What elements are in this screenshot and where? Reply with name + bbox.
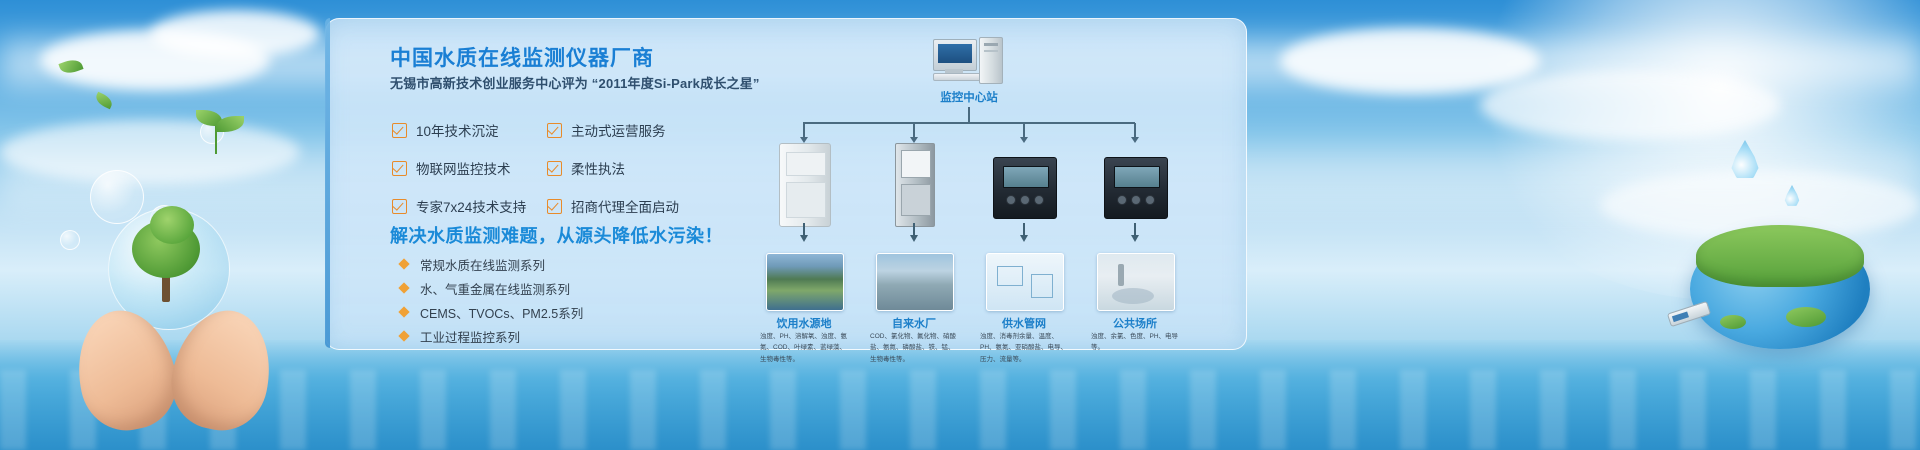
- checklist-row: 10年技术沉淀 主动式运营服务: [392, 120, 702, 140]
- section-heading: 解决水质监测难题，从源头降低水污染！: [390, 222, 723, 248]
- device-cabinet-1: [767, 143, 841, 225]
- pc-tower-icon: [979, 37, 1003, 84]
- page-title: 中国水质在线监测仪器厂商: [390, 42, 654, 72]
- checklist-label: 柔性执法: [571, 158, 625, 178]
- monitor-screen: [938, 44, 972, 63]
- application-photo-3: [986, 253, 1064, 311]
- list-item-label: 工业过程监控系列: [420, 327, 520, 346]
- device-body: [993, 157, 1057, 219]
- diamond-bullet-icon: [398, 258, 409, 269]
- checklist-row: 专家7x24技术支持 招商代理全面启动: [392, 196, 702, 216]
- device-buttons: [1006, 192, 1044, 208]
- diamond-bullet-icon: [398, 306, 409, 317]
- application-caption-title-1: 饮用水源地: [756, 315, 852, 331]
- earth-grass-cap: [1696, 225, 1864, 287]
- application-caption-desc-3: 浊度、消毒剂余量、温度、PH、氨氮、亚硝酸盐、电导、压力、流量等。: [980, 331, 1068, 365]
- list-item: 水、气重金属在线监测系列: [400, 276, 583, 300]
- device-body: [1104, 157, 1168, 219]
- leaf-4: [94, 92, 115, 110]
- diamond-bullet-icon: [398, 330, 409, 341]
- checkbox-icon: [392, 199, 407, 214]
- application-photo-4: [1097, 253, 1175, 311]
- cloud-5: [0, 120, 300, 184]
- promo-banner: 中国水质在线监测仪器厂商 无锡市高新技术创业服务中心评为 “2011年度Si-P…: [0, 0, 1920, 450]
- application-caption-desc-4: 浊度、余氯、色度、PH、电导等。: [1091, 331, 1179, 354]
- device-knob-icon: [1117, 195, 1127, 205]
- page-subtitle: 无锡市高新技术创业服务中心评为 “2011年度Si-Park成长之星”: [390, 73, 760, 92]
- list-item: CEMS、TVOCs、PM2.5系列: [400, 300, 583, 324]
- monitor-icon: [933, 39, 977, 71]
- checklist-item: 招商代理全面启动: [547, 196, 702, 216]
- device-knob-icon: [1020, 195, 1030, 205]
- checkbox-icon: [547, 199, 562, 214]
- checklist-item: 物联网监控技术: [392, 158, 547, 178]
- diamond-bullet-icon: [398, 282, 409, 293]
- checkbox-icon: [392, 161, 407, 176]
- device-arrow-3: [1020, 235, 1028, 242]
- device-screen: [1114, 166, 1160, 188]
- connector-trunk: [968, 107, 970, 123]
- list-item-label: CEMS、TVOCs、PM2.5系列: [420, 303, 583, 322]
- earth-island-2: [1720, 315, 1746, 329]
- application-caption-title-3: 供水管网: [976, 315, 1072, 331]
- feature-checklist: 10年技术沉淀 主动式运营服务 物联网监控技术 柔性执法 专家7x24技术支持: [392, 120, 702, 234]
- device-arrow-1: [800, 235, 808, 242]
- tree-foliage-top: [150, 206, 194, 244]
- device-body: [895, 143, 935, 227]
- earth-globe-illustration: [1690, 215, 1870, 355]
- earth-island-1: [1786, 307, 1826, 327]
- connector-horizontal-bar: [803, 122, 1135, 124]
- device-body: [779, 143, 831, 227]
- checkbox-icon: [547, 123, 562, 138]
- checklist-label: 专家7x24技术支持: [416, 196, 526, 216]
- checkbox-icon: [392, 123, 407, 138]
- application-photo-1: [766, 253, 844, 311]
- device-arrow-2: [910, 235, 918, 242]
- application-caption-title-2: 自来水厂: [866, 315, 962, 331]
- monitoring-center-computer-icon: [933, 37, 1003, 85]
- cloud-4: [1480, 70, 1780, 140]
- device-screen: [1003, 166, 1049, 188]
- device-buttons: [1117, 192, 1155, 208]
- device-analyzer-3: [987, 143, 1061, 225]
- cloud-3: [1280, 28, 1540, 94]
- product-series-list: 常规水质在线监测系列 水、气重金属在线监测系列 CEMS、TVOCs、PM2.5…: [400, 252, 583, 348]
- device-knob-icon: [1131, 195, 1141, 205]
- checklist-label: 主动式运营服务: [571, 120, 666, 140]
- cloud-2: [150, 10, 320, 58]
- list-item: 常规水质在线监测系列: [400, 252, 583, 276]
- list-item-label: 水、气重金属在线监测系列: [420, 279, 570, 298]
- device-analyzer-4: [1098, 143, 1172, 225]
- checklist-item: 主动式运营服务: [547, 120, 702, 140]
- list-item-label: 常规水质在线监测系列: [420, 255, 545, 274]
- monitoring-system-diagram: 监控中心站: [755, 25, 1185, 345]
- device-cabinet-2: [877, 143, 951, 225]
- checklist-label: 招商代理全面启动: [571, 196, 679, 216]
- checklist-label: 物联网监控技术: [416, 158, 511, 178]
- handheld-meter: [1667, 301, 1711, 327]
- checklist-row: 物联网监控技术 柔性执法: [392, 158, 702, 178]
- checkbox-icon: [547, 161, 562, 176]
- device-knob-icon: [1006, 195, 1016, 205]
- panel-left-accent: [325, 18, 330, 348]
- device-knob-icon: [1034, 195, 1044, 205]
- checklist-item: 专家7x24技术支持: [392, 196, 547, 216]
- checklist-item: 10年技术沉淀: [392, 120, 547, 140]
- checklist-item: 柔性执法: [547, 158, 702, 178]
- application-caption-desc-2: COD、氯化物、氟化物、硝酸盐、氨氮、磷酸盐、铁、锰、生物毒性等。: [870, 331, 958, 365]
- center-station-label: 监控中心站: [905, 89, 1033, 105]
- list-item: 工业过程监控系列: [400, 324, 583, 348]
- application-photo-2: [876, 253, 954, 311]
- application-caption-desc-1: 浊度、PH、溶解氧、浊度、氨氮、COD、叶绿素、蓝绿藻、生物毒性等。: [760, 331, 848, 365]
- hands-holding-tree-illustration: [70, 190, 300, 450]
- device-arrow-4: [1131, 235, 1139, 242]
- keyboard-icon: [933, 73, 981, 81]
- application-caption-title-4: 公共场所: [1087, 315, 1183, 331]
- device-knob-icon: [1145, 195, 1155, 205]
- checklist-label: 10年技术沉淀: [416, 120, 499, 140]
